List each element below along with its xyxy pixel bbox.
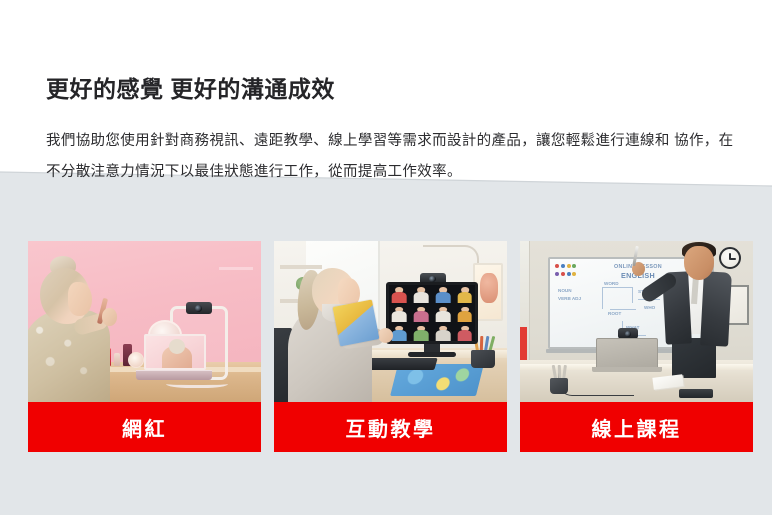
page-title: 更好的感覺 更好的溝通成效 xyxy=(46,74,746,104)
person-hand xyxy=(102,308,117,326)
card-interactive-teaching-caption: 互動教學 xyxy=(274,402,507,452)
influencer-person xyxy=(28,250,118,402)
video-call-participant xyxy=(162,346,192,370)
monitor-bezel xyxy=(386,282,478,344)
whiteboard-left-notes: NOUN VERB ADJ xyxy=(558,287,584,303)
video-call-grid xyxy=(389,285,475,341)
pen-cup xyxy=(550,378,568,394)
video-tile xyxy=(411,285,431,303)
card-online-course-caption: 線上課程 xyxy=(520,402,753,452)
video-tile xyxy=(411,323,431,341)
webcam-icon xyxy=(186,302,212,314)
laptop-keyboard xyxy=(136,370,212,380)
video-tile xyxy=(389,285,409,303)
video-tile xyxy=(455,304,475,322)
monitor-base xyxy=(408,352,456,357)
card-interactive-teaching-photo xyxy=(274,241,507,402)
video-tile xyxy=(433,323,453,341)
video-tile xyxy=(433,304,453,322)
magnet-group-left xyxy=(555,264,577,278)
laptop xyxy=(136,334,212,382)
video-tile xyxy=(411,304,431,322)
card-influencer-photo xyxy=(28,241,261,402)
conference-speaker xyxy=(679,389,713,398)
card-influencer[interactable]: 網紅 xyxy=(28,241,261,452)
video-tile xyxy=(455,323,475,341)
card-row: 網紅 xyxy=(28,241,752,452)
text-block: 更好的感覺 更好的溝通成效 我們協助您使用針對商務視訊、遠距教學、線上學習等需求… xyxy=(46,74,746,187)
video-tile xyxy=(389,304,409,322)
laptop xyxy=(596,338,658,372)
card-online-course-photo: ONLINE LESSON ENGLISH NOUN VERB ADJ GRAM… xyxy=(520,241,753,402)
scene-whiteboard-lesson: ONLINE LESSON ENGLISH NOUN VERB ADJ GRAM… xyxy=(520,241,753,402)
body-line-1: 我們協助您使用針對商務視訊、遠距教學、線上學習等需求而設計的產品，讓您輕鬆進行連… xyxy=(46,133,670,149)
video-tile xyxy=(455,285,475,303)
promo-section: 更好的感覺 更好的溝通成效 我們協助您使用針對商務視訊、遠距教學、線上學習等需求… xyxy=(0,0,772,515)
card-interactive-teaching[interactable]: 互動教學 xyxy=(274,241,507,452)
laptop-lid xyxy=(596,338,658,368)
person-head xyxy=(684,246,714,280)
body-paragraph: 我們協助您使用針對商務視訊、遠距教學、線上學習等需求而設計的產品，讓您輕鬆進行連… xyxy=(46,126,746,187)
laptop-screen xyxy=(144,334,206,370)
card-online-course[interactable]: ONLINE LESSON ENGLISH NOUN VERB ADJ GRAM… xyxy=(520,241,753,452)
video-tile xyxy=(433,285,453,303)
monitor xyxy=(386,282,478,358)
person-face xyxy=(68,282,92,316)
scene-beauty-influencer xyxy=(28,241,261,402)
picture-book xyxy=(333,300,380,347)
wall-shelf xyxy=(219,267,253,270)
scene-teacher-video-call xyxy=(274,241,507,402)
laptop-base xyxy=(592,367,662,372)
card-influencer-caption: 網紅 xyxy=(28,402,261,452)
jacket-right-panel xyxy=(700,271,732,346)
teacher-person xyxy=(658,242,736,374)
person-hand xyxy=(378,328,393,343)
